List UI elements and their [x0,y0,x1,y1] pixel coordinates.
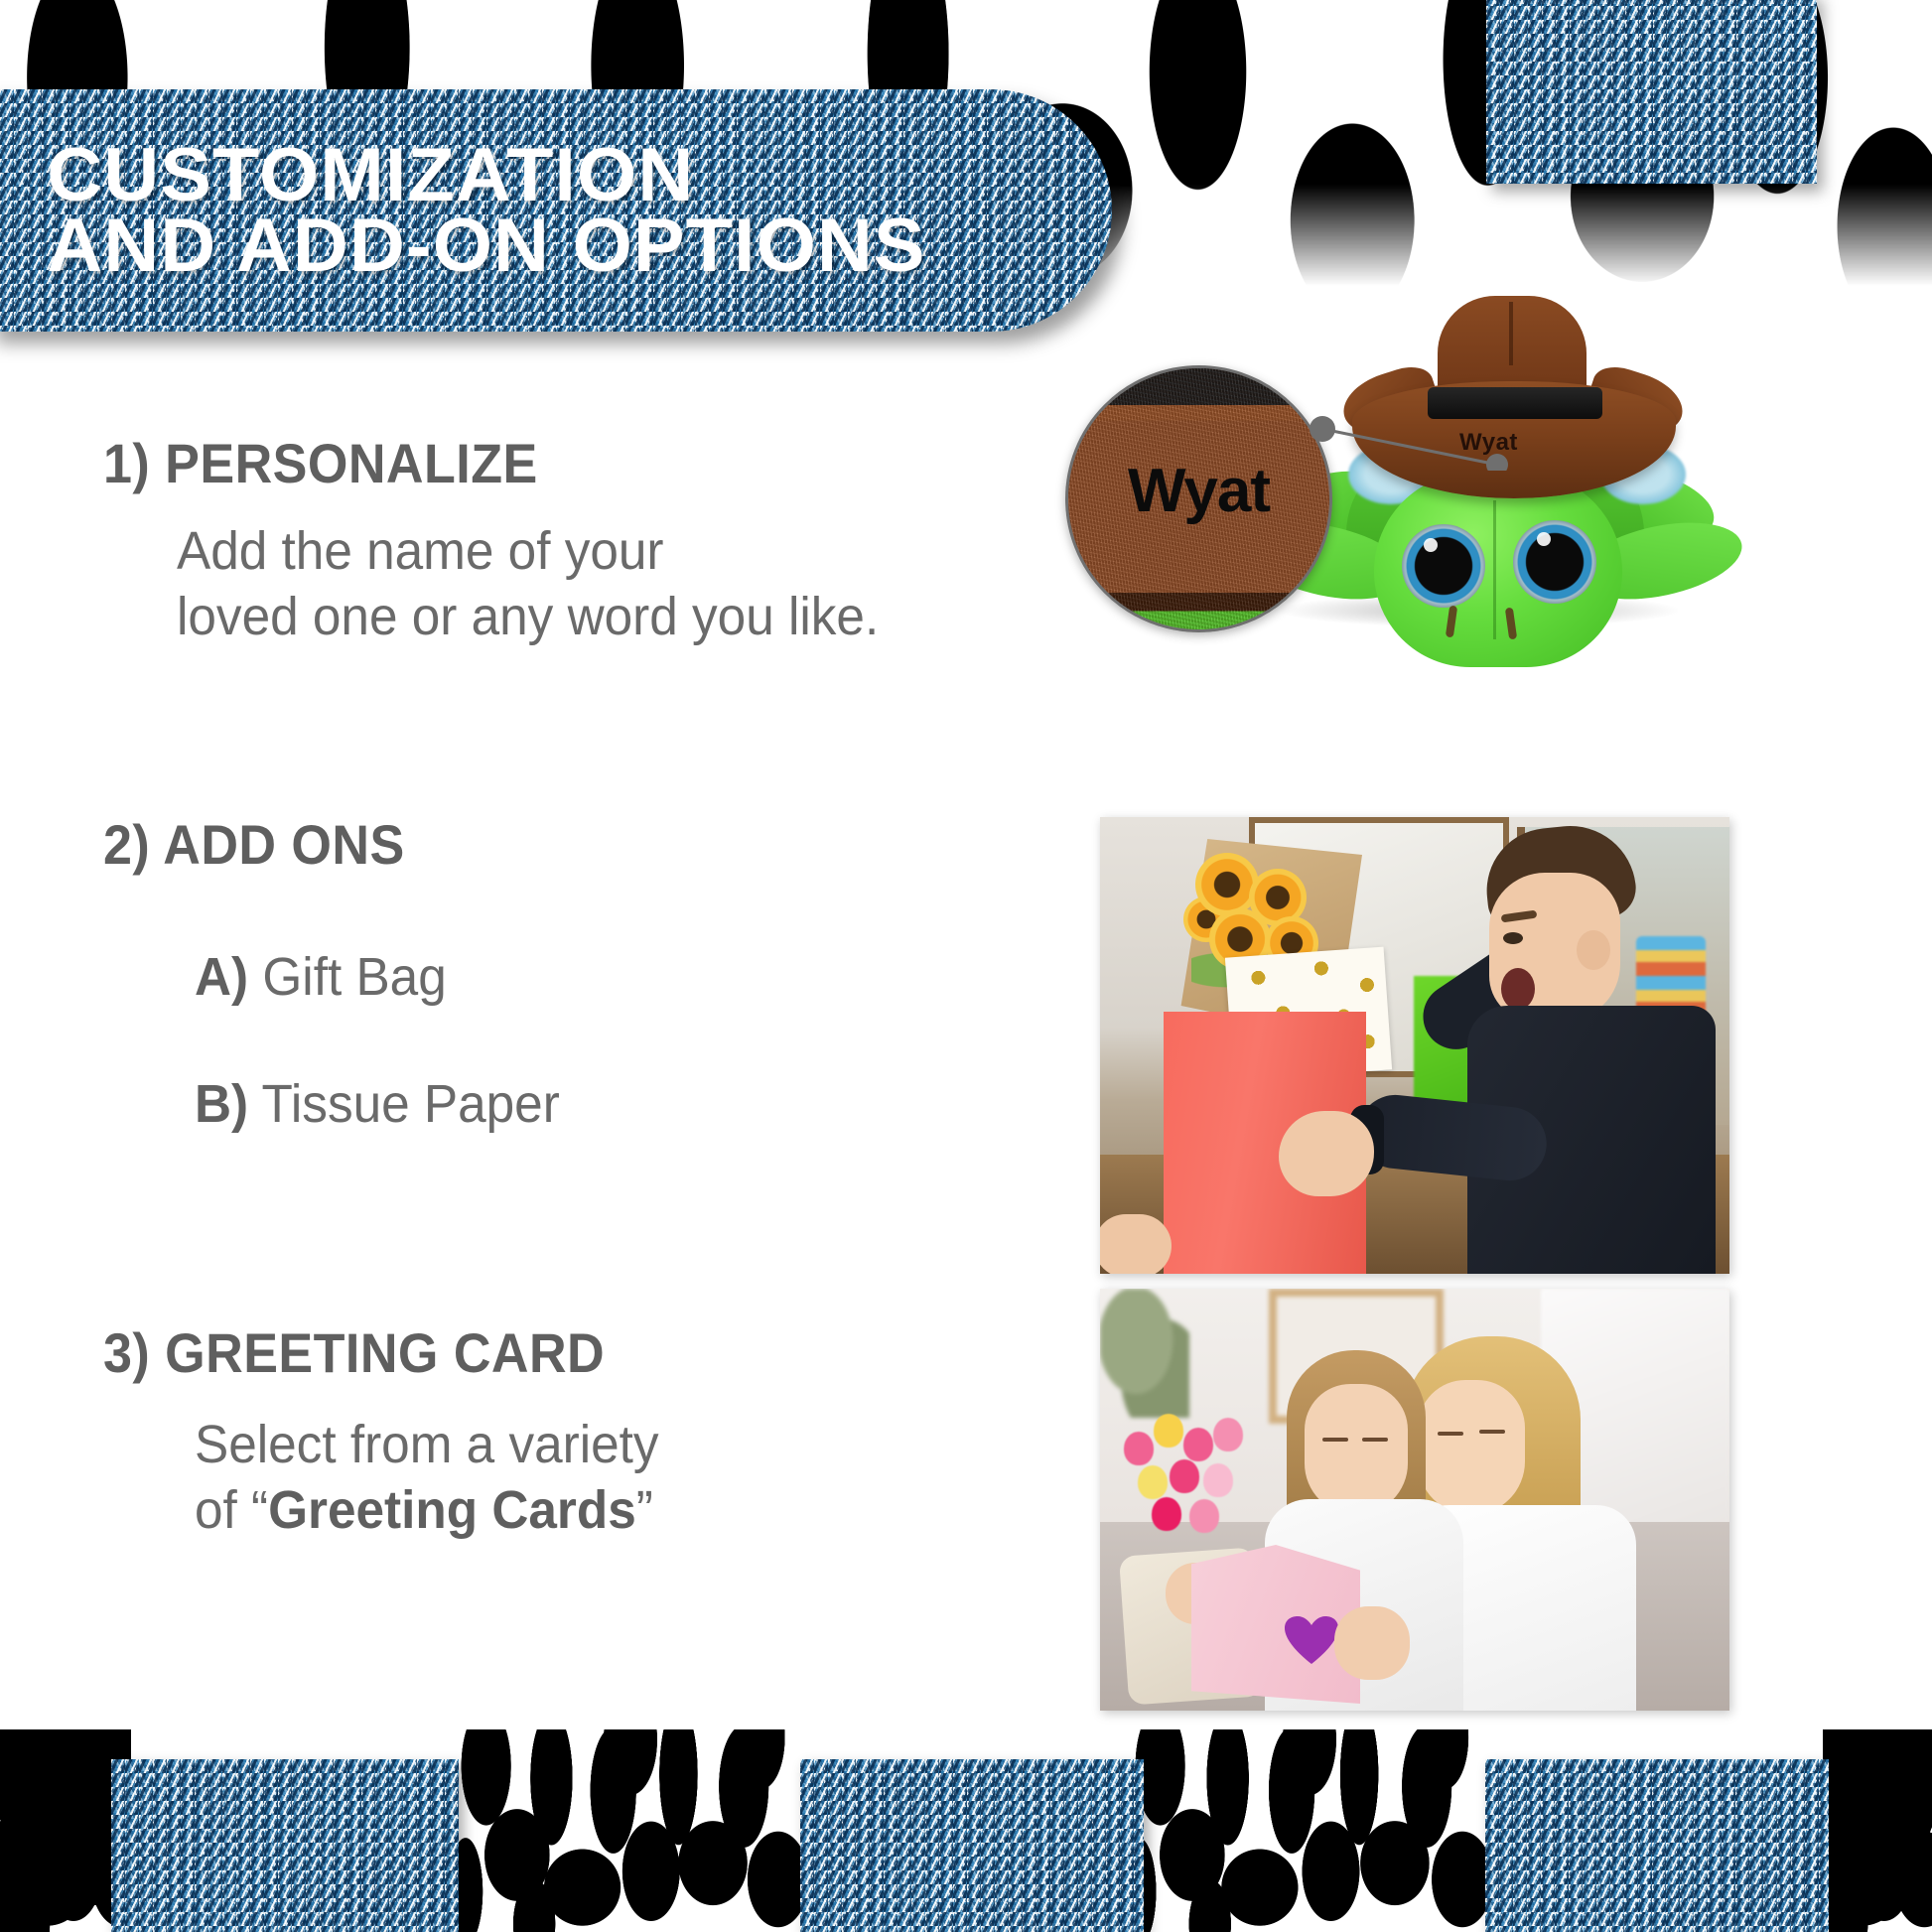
add-on-item-gift-bag[interactable]: A) Gift Bag [195,946,1029,1008]
header-banner: CUSTOMIZATION AND ADD-ON OPTIONS [0,89,1112,332]
boy-eye [1503,932,1523,944]
bottom-cow-panel [459,1729,802,1932]
sunflower [1195,853,1259,916]
page-title: CUSTOMIZATION AND ADD-ON OPTIONS [0,140,926,282]
tulip [1189,1499,1219,1533]
turtle-eye-right [1513,520,1596,604]
step-greeting-card: 3) GREETING CARD Select from a varietyof… [0,1320,1072,1544]
tulip [1152,1497,1181,1531]
step-3-title: 3) GREETING CARD [103,1320,1005,1385]
houseplant [1100,1289,1189,1418]
tulip [1124,1432,1154,1465]
step-3-line2-suffix: ” [636,1480,653,1540]
tulip [1183,1428,1213,1461]
add-on-item-tissue-paper[interactable]: B) Tissue Paper [195,1073,1029,1135]
top-denim-swatch [1486,0,1817,184]
boy-open-mouth [1501,968,1535,1010]
mother-face [1418,1380,1525,1515]
turtle-eye-left [1402,524,1485,608]
add-on-marker-b: B) [195,1074,248,1134]
tulip [1138,1465,1168,1499]
add-on-marker-a: A) [195,947,248,1007]
magnifier-callout-circle: Wyat [1065,365,1332,632]
step-3-body: Select from a varietyof “Greeting Cards” [195,1413,1029,1544]
step-3-line2-prefix: of “ [195,1480,268,1540]
gift-bag-photo [1100,817,1729,1274]
bottom-denim-swatch [111,1759,459,1932]
turtle-seam [1493,500,1496,639]
step-3-emphasis: Greeting Cards [268,1480,636,1540]
eye-glint-right [1537,532,1551,546]
eye-glint-left [1424,538,1438,552]
bottom-border-strip [0,1729,1932,1932]
bottom-denim-swatch [800,1759,1144,1932]
tulip [1154,1414,1183,1448]
boy-ear [1577,930,1610,970]
bottom-denim-swatch [1485,1759,1829,1932]
step-2-title: 2) ADD ONS [103,812,1005,877]
magnified-name-text: Wyat [1068,456,1329,526]
step-1-body: Add the name of your loved one or any wo… [177,519,1028,650]
boy-figure [1428,817,1725,1274]
callout-leader-line [1309,415,1511,471]
step-add-ons: 2) ADD ONS A) Gift Bag B) Tissue Paper [0,812,1072,1135]
add-on-label-tissue-paper: Tissue Paper [261,1074,559,1134]
tulip [1213,1418,1243,1451]
girl-hand-holding-card [1334,1606,1410,1680]
mother-eye [1479,1430,1505,1434]
add-on-label-gift-bag: Gift Bag [262,947,446,1007]
bottom-cow-panel [1132,1729,1487,1932]
greeting-card-photo [1100,1289,1729,1711]
girl-face [1305,1384,1408,1515]
mother-eye [1438,1432,1463,1436]
tulip [1203,1463,1233,1497]
girl-eye [1322,1438,1348,1442]
step-personalize: 1) PERSONALIZE Add the name of your love… [0,431,1072,650]
boy-hand [1279,1111,1374,1196]
tulip [1170,1459,1199,1493]
adult-hand [1100,1214,1172,1274]
bottom-cow-panel [1823,1729,1932,1932]
girl-eye [1362,1438,1388,1442]
poster-canvas: CUSTOMIZATION AND ADD-ON OPTIONS 1) PERS… [0,0,1932,1932]
hat-crease [1509,302,1513,365]
tulip-bouquet [1118,1406,1267,1535]
step-1-title: 1) PERSONALIZE [103,431,1005,495]
step-3-line1: Select from a variety [195,1415,659,1474]
